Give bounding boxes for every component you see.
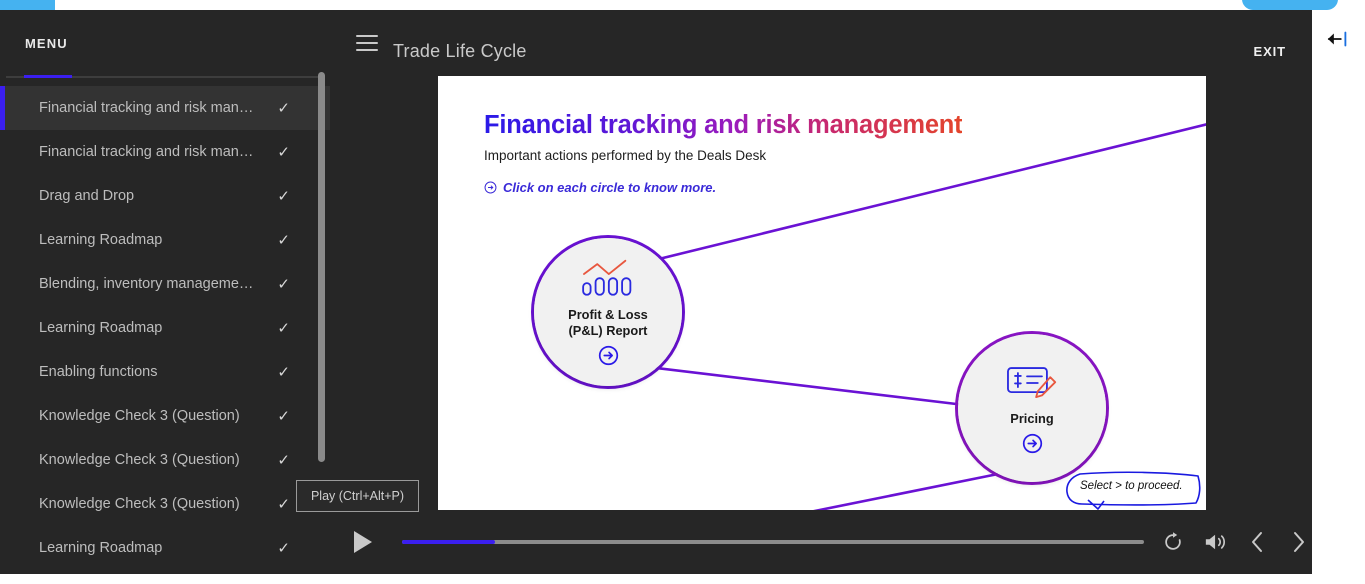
- sidebar-item-4[interactable]: Blending, inventory manageme… ✓: [0, 262, 330, 306]
- node-label-line1: Profit & Loss: [568, 307, 648, 322]
- slide-stage: Financial tracking and risk management I…: [438, 76, 1206, 510]
- node-profit-and-loss[interactable]: Profit & Loss (P&L) Report: [534, 238, 682, 386]
- annotation-text: Select > to proceed.: [1080, 480, 1183, 492]
- node-label: Profit & Loss (P&L) Report: [568, 307, 648, 338]
- sidebar-item-label: Knowledge Check 3 (Question): [39, 452, 269, 468]
- sidebar-item-3[interactable]: Learning Roadmap ✓: [0, 218, 330, 262]
- sidebar-item-label: Learning Roadmap: [39, 320, 269, 336]
- check-icon: ✓: [277, 409, 290, 424]
- control-icon-group: [1162, 530, 1308, 554]
- check-icon: ✓: [277, 497, 290, 512]
- sidebar-item-label: Drag and Drop: [39, 188, 269, 204]
- node-label-line1: Pricing: [1010, 411, 1053, 426]
- node-label-line2: (P&L) Report: [569, 323, 648, 338]
- chevron-left-icon: [1248, 530, 1268, 554]
- page-title: Trade Life Cycle: [393, 41, 527, 62]
- sidebar-item-7[interactable]: Knowledge Check 3 (Question) ✓: [0, 394, 330, 438]
- slide-hint-text: Click on each circle to know more.: [503, 180, 716, 195]
- sidebar-header: MENU: [0, 10, 330, 76]
- circle-arrow-right-icon: [1022, 433, 1043, 454]
- next-slide-button[interactable]: [1288, 530, 1308, 554]
- check-icon: ✓: [277, 541, 290, 556]
- play-tooltip: Play (Ctrl+Alt+P): [296, 480, 419, 512]
- bar-chart-trend-icon: [579, 258, 637, 300]
- sidebar-item-8[interactable]: Knowledge Check 3 (Question) ✓: [0, 438, 330, 482]
- volume-icon: [1204, 531, 1228, 553]
- collapse-panel-left-icon: [1326, 30, 1350, 48]
- node-label: Pricing: [1010, 411, 1053, 427]
- sidebar-item-label: Financial tracking and risk man…: [39, 100, 269, 116]
- annotation-callout: Select > to proceed.: [1058, 470, 1203, 510]
- play-icon: [352, 529, 374, 555]
- check-icon: ✓: [277, 453, 290, 468]
- slide-subtitle: Important actions performed by the Deals…: [484, 148, 766, 163]
- sidebar-item-label: Blending, inventory manageme…: [39, 276, 269, 292]
- hamburger-icon[interactable]: [356, 35, 378, 51]
- check-icon: ✓: [277, 277, 290, 292]
- sidebar-item-2[interactable]: Drag and Drop ✓: [0, 174, 330, 218]
- right-rail: [1312, 10, 1365, 574]
- sidebar-scrollbar-thumb[interactable]: [318, 72, 325, 462]
- player-control-bar: [330, 510, 1312, 574]
- check-icon: ✓: [277, 233, 290, 248]
- progress-bar[interactable]: [402, 540, 1144, 544]
- sidebar-item-label: Knowledge Check 3 (Question): [39, 408, 269, 424]
- bottom-white-strip: [0, 574, 1365, 584]
- check-icon: ✓: [277, 365, 290, 380]
- node-arrow-pl[interactable]: [598, 345, 619, 366]
- node-pricing[interactable]: Pricing: [958, 334, 1106, 482]
- sidebar-item-9[interactable]: Knowledge Check 3 (Question) ✓: [0, 482, 330, 526]
- menu-heading: MENU: [25, 36, 68, 51]
- player-header: Trade Life Cycle EXIT: [330, 10, 1312, 76]
- player-area: Trade Life Cycle EXIT Financial tracking…: [330, 10, 1312, 574]
- chevron-right-icon: [1288, 530, 1308, 554]
- replay-button[interactable]: [1162, 531, 1184, 553]
- collapse-panel-button[interactable]: [1326, 30, 1350, 48]
- check-icon: ✓: [277, 145, 290, 160]
- previous-slide-button[interactable]: [1248, 530, 1268, 554]
- exit-button[interactable]: EXIT: [1254, 44, 1287, 59]
- check-icon: ✓: [277, 189, 290, 204]
- circle-arrow-right-icon: [598, 345, 619, 366]
- browser-tab-right[interactable]: [1242, 0, 1338, 10]
- replay-icon: [1162, 531, 1184, 553]
- sidebar-item-10[interactable]: Learning Roadmap ✓: [0, 526, 330, 570]
- sidebar-item-6[interactable]: Enabling functions ✓: [0, 350, 330, 394]
- elearning-player-window: MENU Financial tracking and risk man… ✓ …: [0, 0, 1365, 584]
- sidebar-item-label: Knowledge Check 3 (Question): [39, 496, 269, 512]
- sidebar-item-1[interactable]: Financial tracking and risk man… ✓: [0, 130, 330, 174]
- sidebar-item-label: Learning Roadmap: [39, 540, 269, 556]
- slide-hint: Click on each circle to know more.: [484, 180, 716, 195]
- node-arrow-pricing[interactable]: [1022, 433, 1043, 454]
- play-button[interactable]: [352, 529, 374, 555]
- price-tag-edit-icon: [1003, 362, 1061, 404]
- slide-canvas: Financial tracking and risk management I…: [438, 76, 1206, 510]
- sidebar-menu-list: Financial tracking and risk man… ✓ Finan…: [0, 78, 330, 570]
- check-icon: ✓: [277, 101, 290, 116]
- sidebar: MENU Financial tracking and risk man… ✓ …: [0, 10, 330, 574]
- sidebar-item-label: Learning Roadmap: [39, 232, 269, 248]
- sidebar-item-5[interactable]: Learning Roadmap ✓: [0, 306, 330, 350]
- check-icon: ✓: [277, 321, 290, 336]
- sidebar-item-label: Financial tracking and risk man…: [39, 144, 269, 160]
- volume-button[interactable]: [1204, 531, 1228, 553]
- circle-arrow-right-icon: [484, 181, 497, 194]
- sidebar-item-0[interactable]: Financial tracking and risk man… ✓: [0, 86, 330, 130]
- slide-title: Financial tracking and risk management: [484, 111, 962, 140]
- browser-top-strip: [0, 0, 1365, 10]
- progress-fill: [402, 540, 495, 544]
- sidebar-item-label: Enabling functions: [39, 364, 269, 380]
